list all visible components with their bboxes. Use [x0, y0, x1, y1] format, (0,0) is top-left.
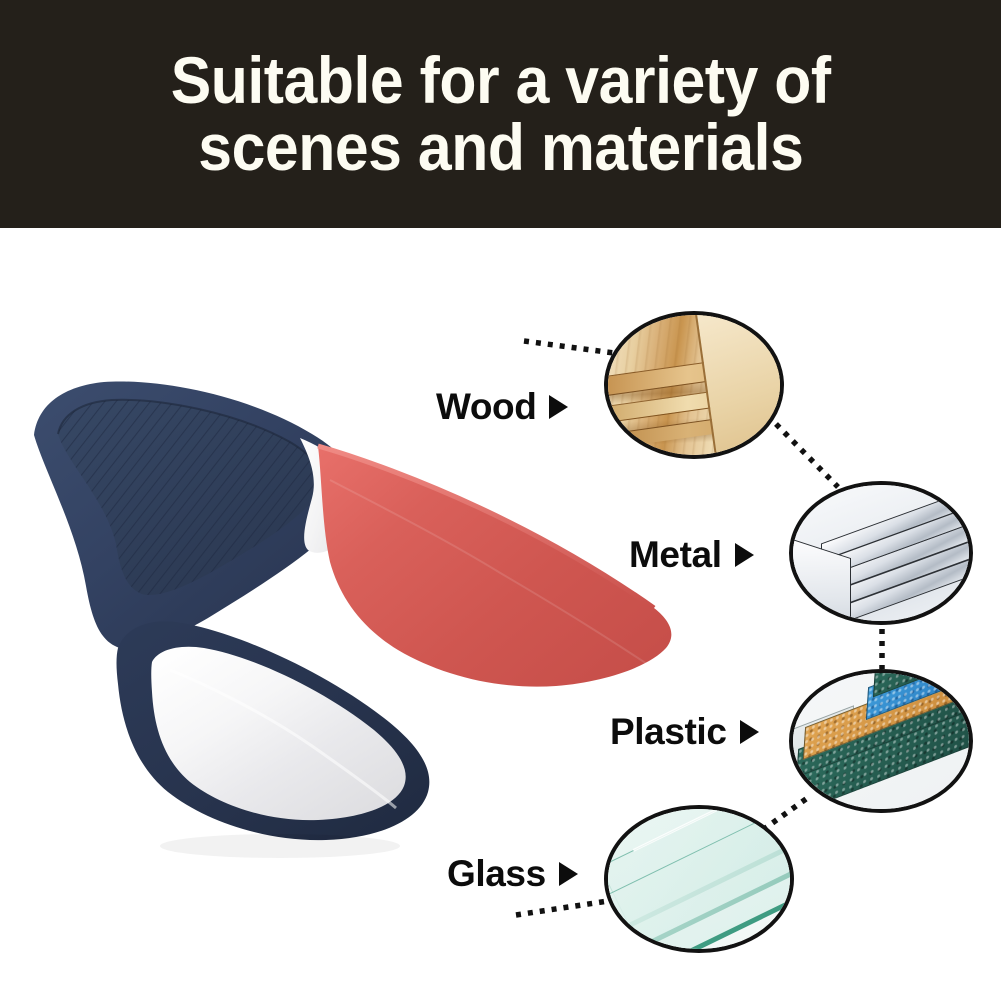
- callout-label-glass-text: Glass: [447, 853, 546, 895]
- callout-label-plastic: Plastic: [610, 711, 759, 753]
- callout-label-glass: Glass: [447, 853, 578, 895]
- callout-label-plastic-text: Plastic: [610, 711, 727, 753]
- triangle-right-icon: [549, 395, 568, 419]
- leader-line-wood-to-metal: [776, 424, 838, 487]
- leader-line-into-glass: [516, 901, 608, 915]
- swatch-bubble-plastic: [789, 669, 973, 813]
- callout-label-wood: Wood: [436, 386, 568, 428]
- infographic-canvas: Suitable for a variety of scenes and mat…: [0, 0, 1001, 1001]
- callout-label-wood-text: Wood: [436, 386, 536, 428]
- leader-line-into-wood: [524, 341, 614, 353]
- callout-label-metal: Metal: [629, 534, 754, 576]
- swatch-bubble-metal: [789, 481, 973, 625]
- swatch-bubble-glass: [604, 805, 794, 953]
- swatch-bubble-wood: [604, 311, 784, 459]
- triangle-right-icon: [559, 862, 578, 886]
- callout-label-metal-text: Metal: [629, 534, 722, 576]
- triangle-right-icon: [740, 720, 759, 744]
- triangle-right-icon: [735, 543, 754, 567]
